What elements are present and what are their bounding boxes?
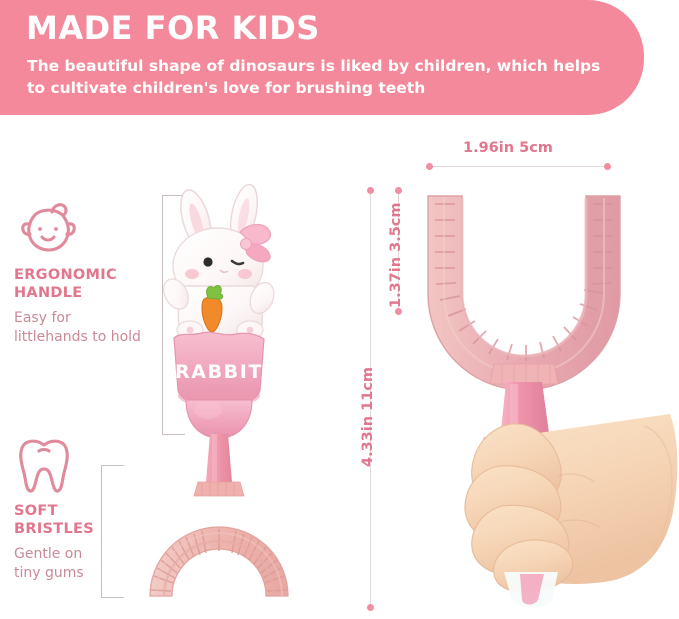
bracket-bristles [101,465,124,598]
feature-description: Gentle on tiny gums [14,545,94,581]
dimension-label-total-length: 4.33in 11cm [360,367,376,467]
product-brand-text: RABBIT [175,361,263,383]
child-hand-detail [465,414,677,592]
feature-title: SOFT BRISTLES [14,503,94,538]
dimension-dot [426,163,433,170]
feature-description: Easy for littlehands to hold [14,309,141,345]
infographic-page: MADE FOR KIDS The beautiful shape of din… [0,0,679,619]
baby-face-icon [14,196,141,267]
dimension-dot [395,308,402,315]
feature-title: ERGONOMIC HANDLE [14,267,141,302]
dimension-dot [367,187,374,194]
dimension-dot [367,604,374,611]
product-image-hand-holding-toothbrush [408,176,679,619]
page-title: MADE FOR KIDS [26,11,320,46]
product-image-rabbit-toothbrush: RABBIT [140,182,350,612]
header-banner: MADE FOR KIDS The beautiful shape of din… [0,0,644,115]
dimension-line-brush-head-width [430,166,608,167]
page-subtitle: The beautiful shape of dinosaurs is like… [27,55,617,100]
feature-ergonomic-handle: ERGONOMIC HANDLE Easy for littlehands to… [14,196,141,346]
dimension-dot [604,163,611,170]
feature-soft-bristles: SOFT BRISTLES Gentle on tiny gums [14,436,94,582]
dimension-label-brush-head-width: 1.96in 5cm [463,140,553,156]
u-brush-head-upright-detail [428,196,620,390]
tooth-icon [14,436,94,503]
dimension-dot [395,187,402,194]
u-brush-head-detail [150,527,288,596]
dimension-label-brush-head-height: 1.37in 3.5cm [388,202,404,308]
